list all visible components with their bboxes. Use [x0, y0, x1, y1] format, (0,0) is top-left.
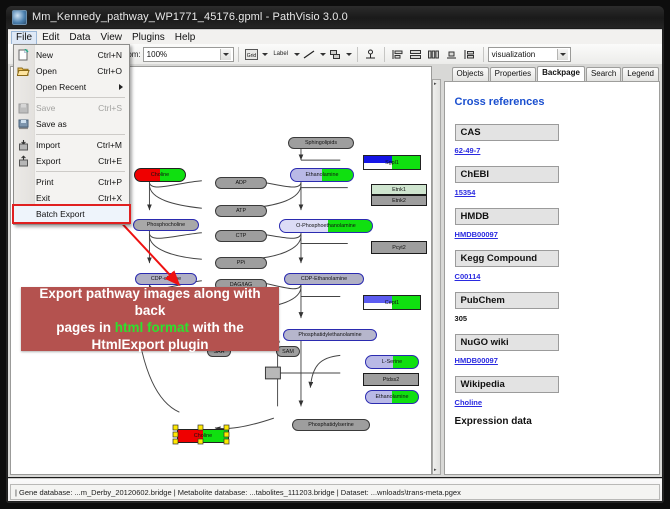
node-ptdss2[interactable]: Ptdss2 [363, 373, 419, 386]
node-choline-selected[interactable]: Choline [177, 429, 229, 443]
distribute-icon[interactable] [426, 47, 442, 62]
backpage-content: Cross references CAS 62-49-7 ChEBI 15354… [444, 81, 660, 475]
menu-item-export-label: Export [36, 156, 98, 166]
svg-text:Grid: Grid [247, 53, 257, 59]
menu-item-save-label: Save [36, 103, 98, 113]
node-ppi[interactable]: PPi [215, 257, 267, 269]
application-window: Mm_Kennedy_pathway_WP1771_45176.gpml - P… [6, 6, 664, 503]
sidebar-tabs: Objects Properties Backpage Search Legen… [444, 66, 660, 81]
menu-item-save-accel: Ctrl+S [98, 103, 129, 113]
save-as-icon [17, 118, 30, 130]
label-icon[interactable]: Label [270, 47, 292, 62]
callout-line2-b: with the [189, 320, 244, 335]
menu-view[interactable]: View [95, 31, 127, 45]
line-dropdown-icon[interactable] [319, 47, 327, 61]
node-sphingolipids[interactable]: Sphingolipids [288, 137, 354, 149]
status-text: | Gene database: ...m_Derby_20120602.bri… [11, 488, 461, 497]
menu-item-new-label: New [36, 50, 98, 60]
zoom-combo[interactable]: 100% [143, 47, 234, 62]
side-panel: Objects Properties Backpage Search Legen… [444, 66, 660, 475]
submenu-arrow-icon [119, 84, 123, 90]
menu-item-batch-export[interactable]: Batch Export [14, 206, 129, 222]
save-disk-icon [17, 102, 30, 114]
common-width-icon[interactable] [462, 47, 478, 62]
node-sgpl1[interactable]: Sgpl1 [363, 155, 421, 170]
xref-pubchem-value: 305 [455, 314, 651, 323]
tab-properties[interactable]: Properties [490, 67, 536, 81]
xref-chebi-link[interactable]: 15354 [455, 188, 651, 197]
menu-item-print[interactable]: Print Ctrl+P [14, 174, 129, 190]
menu-item-save-as-label: Save as [36, 119, 122, 129]
grid-icon[interactable]: Grid [244, 47, 260, 62]
menu-item-new[interactable]: New Ctrl+N [14, 47, 129, 63]
menu-data[interactable]: Data [64, 31, 95, 45]
node-ethanolamine-bottom[interactable]: Ethanolamine [365, 390, 419, 404]
node-cept1[interactable]: Cept1 [363, 295, 421, 310]
cross-references-title: Cross references [455, 96, 651, 108]
callout-text: Export pathway images along with back pa… [21, 285, 279, 353]
menu-item-import[interactable]: Import Ctrl+M [14, 137, 129, 153]
menu-item-open-recent-label: Open Recent [36, 82, 119, 92]
tab-backpage[interactable]: Backpage [537, 66, 585, 81]
xref-wikipedia-link[interactable]: Choline [455, 398, 651, 407]
grid-dropdown-icon[interactable] [261, 47, 269, 61]
xref-chebi: ChEBI 15354 [455, 164, 651, 197]
menu-edit[interactable]: Edit [37, 31, 64, 45]
xref-hmdb-link[interactable]: HMDB00097 [455, 230, 651, 239]
menu-item-open[interactable]: Open Ctrl+O [14, 63, 129, 79]
menu-item-print-label: Print [36, 177, 98, 187]
xref-kegg-label: Kegg Compound [455, 250, 559, 267]
chevron-down-icon[interactable] [220, 49, 231, 60]
file-menu-popup[interactable]: New Ctrl+N Open Ctrl+O Open Recent Save … [13, 44, 130, 225]
anchor-dropdown-icon[interactable] [345, 47, 353, 61]
node-adp[interactable]: ADP [215, 177, 267, 189]
import-icon [17, 139, 30, 151]
node-phosphocholine[interactable]: Phosphocholine [133, 219, 199, 231]
menu-separator [36, 97, 125, 98]
menu-item-import-label: Import [36, 140, 97, 150]
status-bar-inner: | Gene database: ...m_Derby_20120602.bri… [10, 484, 660, 500]
align-top-icon[interactable] [363, 47, 379, 62]
align-left-icon[interactable] [390, 47, 406, 62]
menu-item-export-accel: Ctrl+E [98, 156, 129, 166]
callout-box: Export pathway images along with back pa… [21, 287, 279, 351]
visualization-combo[interactable]: visualization [488, 47, 571, 62]
window-title: Mm_Kennedy_pathway_WP1771_45176.gpml - P… [32, 11, 348, 23]
node-cdp-ethanolamine[interactable]: CDP-Ethanolamine [284, 273, 364, 285]
callout-highlight: html format [115, 320, 189, 335]
callout-line3: HtmlExport plugin [92, 337, 209, 352]
menu-item-save: Save Ctrl+S [14, 100, 129, 116]
menu-item-open-recent[interactable]: Open Recent [14, 79, 129, 95]
menu-item-import-accel: Ctrl+M [97, 140, 129, 150]
xref-kegg: Kegg Compound C00114 [455, 248, 651, 281]
node-sam[interactable]: SAM [276, 346, 300, 357]
node-phosphatidylethanolamine[interactable]: Phosphatidylethanolamine [283, 329, 377, 341]
menu-item-open-accel: Ctrl+O [97, 66, 129, 76]
callout-line2-a: pages in [56, 320, 115, 335]
menu-item-open-label: Open [36, 66, 97, 76]
xref-nugo-label: NuGO wiki [455, 334, 559, 351]
xref-chebi-label: ChEBI [455, 166, 559, 183]
tab-search[interactable]: Search [586, 67, 621, 81]
visualization-chevron-down-icon[interactable] [557, 49, 568, 60]
menu-item-exit-label: Exit [36, 193, 98, 203]
anchor-icon[interactable] [328, 47, 344, 62]
node-choline-top[interactable]: Choline [134, 168, 186, 182]
visualization-value: visualization [492, 50, 536, 59]
menu-item-exit-accel: Ctrl+X [98, 193, 129, 203]
stack-icon[interactable] [444, 47, 460, 62]
status-bar: | Gene database: ...m_Derby_20120602.bri… [8, 478, 662, 501]
node-l-serine[interactable]: L-Serine [365, 355, 419, 369]
node-atp[interactable]: ATP [215, 205, 267, 217]
screen: Mm_Kennedy_pathway_WP1771_45176.gpml - P… [0, 0, 670, 509]
menu-plugins[interactable]: Plugins [127, 31, 170, 45]
xref-hmdb: HMDB HMDB00097 [455, 206, 651, 239]
node-o-phosphoethanolamine[interactable]: O-Phosphoethanolamine [279, 219, 373, 233]
xref-cas-link[interactable]: 62-49-7 [455, 146, 651, 155]
menu-item-export[interactable]: Export Ctrl+E [14, 153, 129, 169]
xref-hmdb-label: HMDB [455, 208, 559, 225]
node-etnk1[interactable]: Etnk1 [371, 184, 427, 195]
xref-wikipedia: Wikipedia Choline [455, 374, 651, 407]
xref-pubchem: PubChem 305 [455, 290, 651, 323]
menu-separator-3 [36, 171, 125, 172]
menu-separator-2 [36, 134, 125, 135]
title-bar: Mm_Kennedy_pathway_WP1771_45176.gpml - P… [6, 6, 664, 28]
xref-cas: CAS 62-49-7 [455, 122, 651, 155]
node-pcyt2[interactable]: Pcyt2 [371, 241, 427, 254]
xref-kegg-link[interactable]: C00114 [455, 272, 651, 281]
tab-legend[interactable]: Legend [622, 67, 659, 81]
expression-data-heading: Expression data [455, 416, 651, 427]
menu-item-print-accel: Ctrl+P [98, 177, 129, 187]
menu-file[interactable]: File [11, 31, 37, 45]
xref-wikipedia-label: Wikipedia [455, 376, 559, 393]
xref-pubchem-label: PubChem [455, 292, 559, 309]
node-ctp[interactable]: CTP [215, 230, 267, 242]
xref-cas-label: CAS [455, 124, 559, 141]
label-dropdown-icon[interactable] [293, 47, 301, 61]
xref-nugo-link[interactable]: HMDB00097 [455, 356, 651, 365]
folder-open-icon [17, 65, 30, 77]
align-center-icon[interactable] [408, 47, 424, 62]
menu-item-new-accel: Ctrl+N [98, 50, 129, 60]
sidebar-collapse-strip[interactable]: ▸▸ [432, 79, 441, 475]
node-phosphatidylserine[interactable]: Phosphatidylserine [292, 419, 370, 431]
menu-help[interactable]: Help [170, 31, 201, 45]
tab-objects[interactable]: Objects [452, 67, 489, 81]
menu-item-save-as[interactable]: Save as [14, 116, 129, 132]
node-ethanolamine-top[interactable]: Ethanolamine [290, 168, 354, 182]
callout-line1: Export pathway images along with back [39, 286, 260, 318]
new-document-icon [17, 49, 30, 61]
app-icon [12, 10, 27, 25]
menu-item-batch-export-label: Batch Export [36, 209, 122, 219]
line-icon[interactable] [302, 47, 318, 62]
node-cdp-choline[interactable]: CDP-choline [135, 273, 197, 285]
zoom-value: 100% [147, 50, 167, 59]
export-icon [17, 155, 30, 167]
menu-item-exit[interactable]: Exit Ctrl+X [14, 190, 129, 206]
xref-nugo: NuGO wiki HMDB00097 [455, 332, 651, 365]
node-etnk2[interactable]: Etnk2 [371, 195, 427, 206]
menu-bar: File Edit Data View Plugins Help [8, 29, 662, 45]
